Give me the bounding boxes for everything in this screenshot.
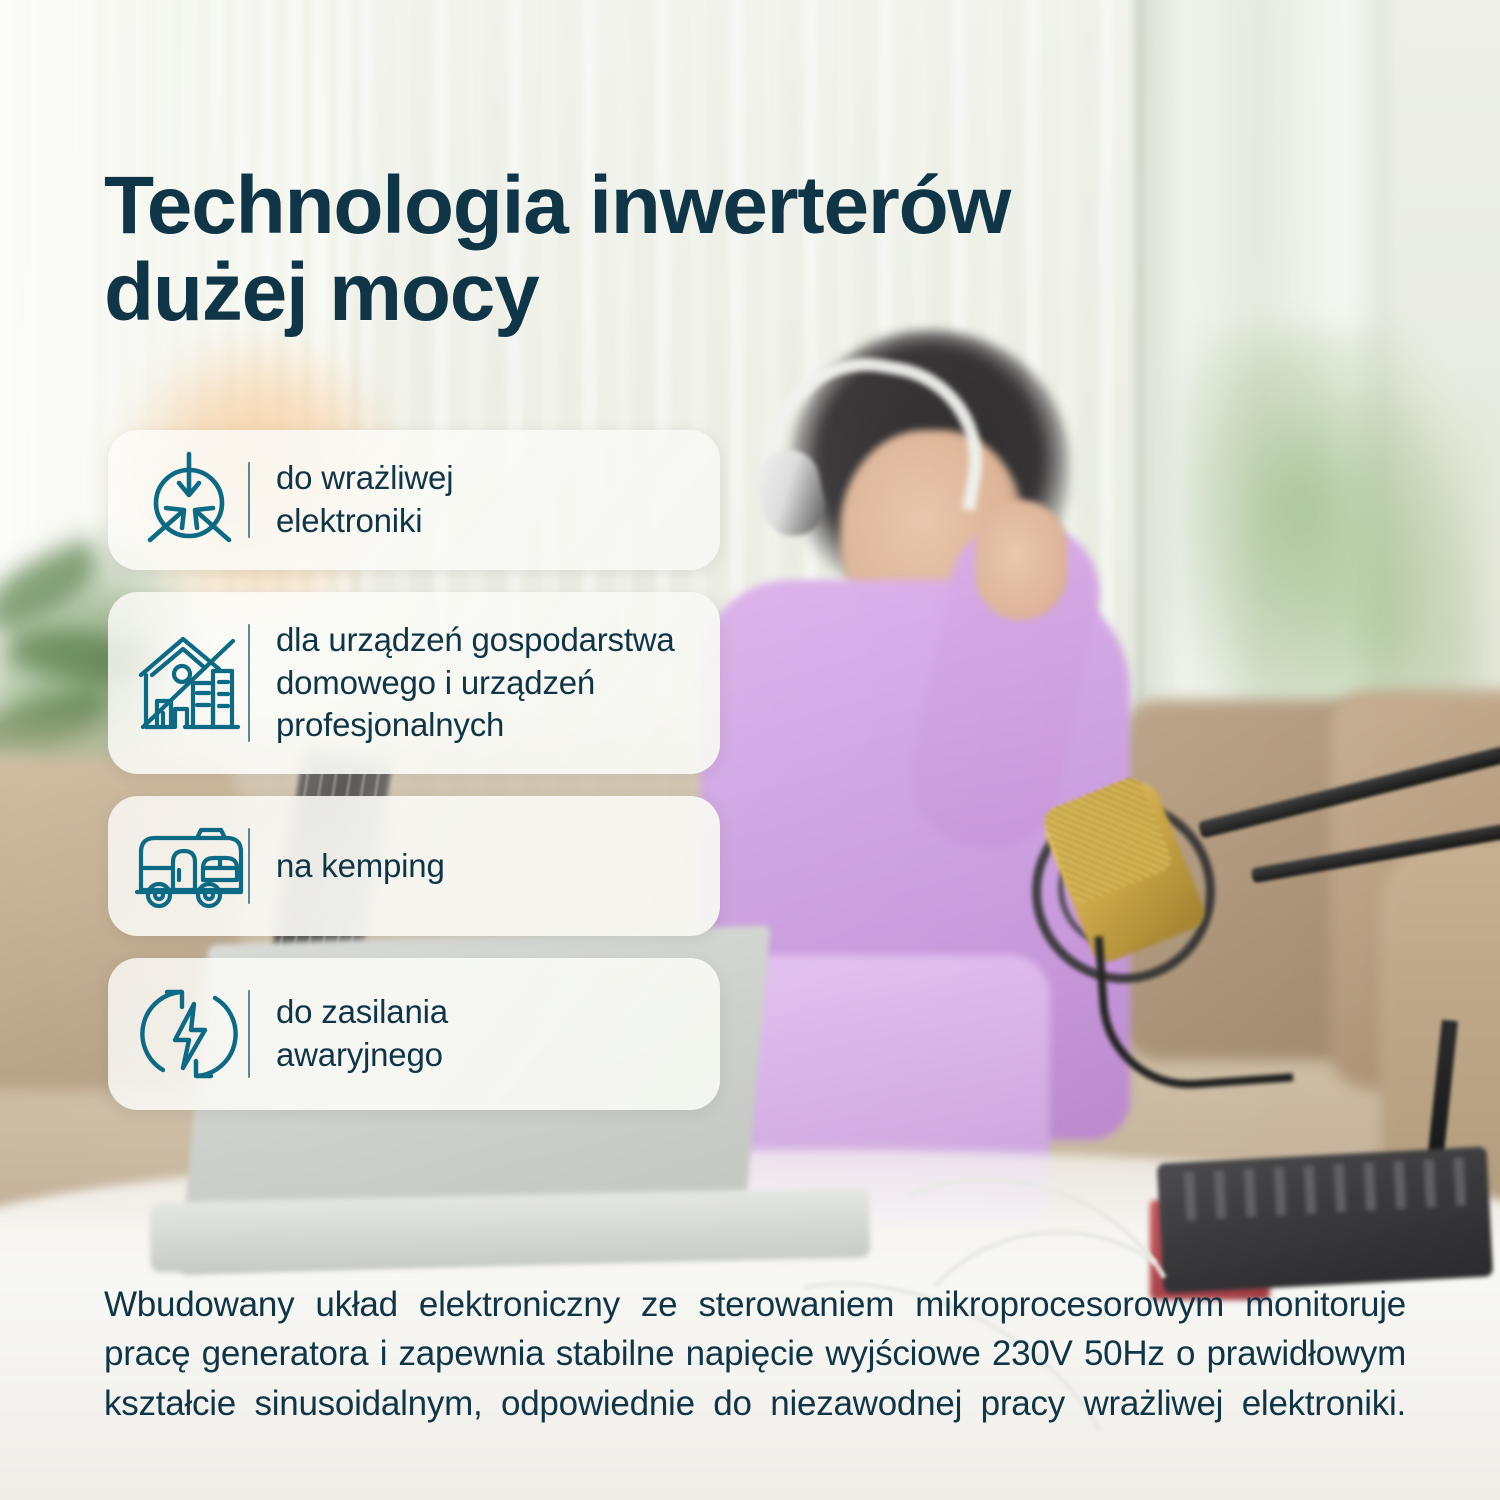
caravan-trailer-icon — [130, 812, 248, 920]
card-divider — [248, 990, 250, 1078]
card-divider — [248, 828, 250, 904]
power-cycle-lightning-icon — [130, 980, 248, 1088]
feature-card-sensitive-electronics[interactable]: do wrażliwej elektroniki — [108, 430, 720, 570]
feature-card-camping[interactable]: na kemping — [108, 796, 720, 936]
overlay-content: Technologia inwerterów dużej mocy — [0, 0, 1500, 1500]
feature-label: na kemping — [250, 845, 698, 888]
feature-card-household-professional[interactable]: dla urządzeń gospodarstwa domowego i urz… — [108, 592, 720, 774]
house-and-office-buildings-icon — [130, 629, 248, 737]
infographic-canvas: Technologia inwerterów dużej mocy — [0, 0, 1500, 1500]
feature-label: do zasilania awaryjnego — [250, 991, 698, 1077]
description-paragraph: Wbudowany układ elektroniczny ze sterowa… — [104, 1280, 1406, 1477]
circle-inward-arrows-icon — [130, 446, 248, 554]
page-title: Technologia inwerterów dużej mocy — [104, 163, 1314, 337]
feature-card-backup-power[interactable]: do zasilania awaryjnego — [108, 958, 720, 1110]
feature-label: do wrażliwej elektroniki — [250, 457, 698, 543]
feature-card-list: do wrażliwej elektroniki — [108, 430, 720, 1132]
card-divider — [248, 462, 250, 538]
card-divider — [248, 624, 250, 742]
feature-label: dla urządzeń gospodarstwa domowego i urz… — [250, 619, 698, 748]
